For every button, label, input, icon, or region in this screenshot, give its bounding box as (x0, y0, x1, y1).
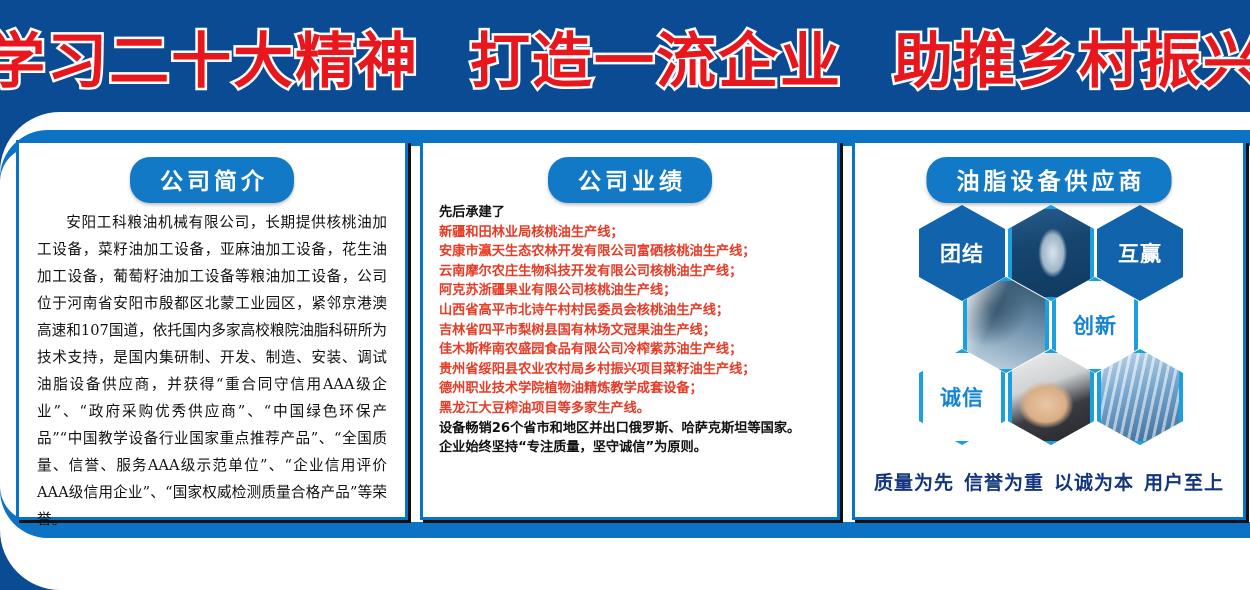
achievements-intro: 先后承建了 (439, 203, 825, 223)
header-title: 学习二十大精神 打造一流企业 助推乡村振兴 (0, 13, 1250, 100)
company-profile-paragraph: 安阳工科粮油机械有限公司，长期提供核桃油加工设备，菜籽油加工设备，亚麻油加工设备… (37, 209, 387, 533)
achievement-item: 贵州省绥阳县农业农村局乡村振兴项目菜籽油生产线； (439, 360, 825, 380)
header-title-part-1: 学习二十大精神 (0, 27, 419, 97)
panel-supplier: 油脂设备供应商 团结互赢创新诚信 质量为先信誉为重以诚为本用户至上 (852, 140, 1246, 520)
slogan-part: 信誉为重 (964, 472, 1044, 494)
poster-root: 学习二十大精神 打造一流企业 助推乡村振兴 公司简介 安阳工科粮油机械有限公司，… (0, 0, 1250, 590)
panel-title-supplier: 油脂设备供应商 (927, 157, 1172, 203)
slogan-part: 以诚为本 (1054, 472, 1134, 494)
header-title-part-3: 助推乡村振兴 (893, 27, 1250, 97)
achievement-item: 阿克苏浙疆果业有限公司核桃油生产线； (439, 281, 825, 301)
panel-title-company-profile: 公司简介 (130, 157, 294, 203)
achievement-item: 云南摩尔农庄生物科技开发有限公司核桃油生产线； (439, 262, 825, 282)
achievement-item: 佳木斯桦南农盛园食品有限公司冷榨紫苏油生产线； (439, 340, 825, 360)
achievements-outro: 企业始终坚持“专注质量，坚守诚信”为原则。 (439, 438, 825, 458)
header-banner: 学习二十大精神 打造一流企业 助推乡村振兴 (0, 0, 1250, 112)
achievement-item: 山西省高平市北诗午村村民委员会核桃油生产线； (439, 301, 825, 321)
achievement-item: 黑龙江大豆榨油项目等多家生产线。 (439, 399, 825, 419)
achievement-item: 安康市瀛天生态农林开发有限公司富硒核桃油生产线； (439, 242, 825, 262)
hexagon-label: 创新 (1073, 310, 1117, 340)
hexagon-label: 诚信 (940, 382, 984, 412)
slogan-part: 用户至上 (1144, 472, 1224, 494)
hexagon-cluster: 团结互赢创新诚信 (855, 199, 1243, 449)
achievements-list: 先后承建了新疆和田林业局核桃油生产线；安康市瀛天生态农林开发有限公司富硒核桃油生… (439, 203, 825, 458)
panel-company-achievements: 公司业绩 先后承建了新疆和田林业局核桃油生产线；安康市瀛天生态农林开发有限公司富… (420, 140, 840, 520)
supplier-slogan: 质量为先信誉为重以诚为本用户至上 (855, 468, 1243, 495)
hexagon-label: 互赢 (1118, 238, 1162, 268)
achievement-item: 新疆和田林业局核桃油生产线； (439, 223, 825, 243)
achievement-item: 吉林省四平市梨树县国有林场文冠果油生产线； (439, 321, 825, 341)
panel-company-profile: 公司简介 安阳工科粮油机械有限公司，长期提供核桃油加工设备，菜籽油加工设备，亚麻… (16, 140, 408, 520)
achievement-item: 德州职业技术学院植物油精炼教学成套设备； (439, 379, 825, 399)
panels-row: 公司简介 安阳工科粮油机械有限公司，长期提供核桃油加工设备，菜籽油加工设备，亚麻… (16, 140, 1250, 520)
slogan-part: 质量为先 (874, 472, 954, 494)
panel-title-company-achievements: 公司业绩 (548, 157, 712, 203)
achievements-outro: 设备畅销26个省市和地区并出口俄罗斯、哈萨克斯坦等国家。 (439, 419, 825, 439)
hexagon-label: 团结 (940, 238, 984, 268)
header-title-part-2: 打造一流企业 (470, 27, 842, 97)
